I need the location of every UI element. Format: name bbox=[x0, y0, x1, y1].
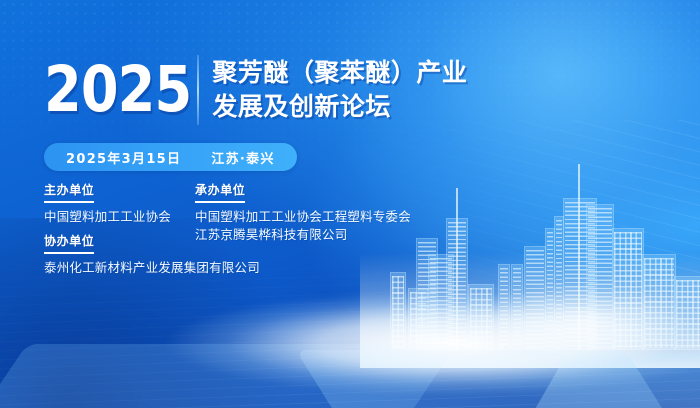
organizer-heading: 承办单位 bbox=[195, 181, 245, 203]
organizer-line: 泰州化工新材料产业发展集团有限公司 bbox=[44, 259, 260, 277]
organizer-heading: 主办单位 bbox=[44, 181, 94, 203]
organizer-line: 中国塑料加工工业协会工程塑料专委会 bbox=[195, 208, 411, 226]
title-line-2: 发展及创新论坛 bbox=[212, 90, 467, 124]
event-location: 江苏·泰兴 bbox=[211, 148, 274, 167]
title-line-1: 聚芳醚（聚苯醚）产业 bbox=[212, 56, 467, 90]
poster-content: 2025 聚芳醚（聚苯醚）产业 发展及创新论坛 2025年3月15日 江苏·泰兴… bbox=[44, 0, 684, 408]
organizer-line: 中国塑料加工工业协会 bbox=[44, 208, 171, 226]
event-date: 2025年3月15日 bbox=[66, 148, 181, 167]
title-divider bbox=[197, 55, 199, 125]
organizer-heading: 协办单位 bbox=[44, 232, 94, 254]
organizer-block-host: 主办单位 中国塑料加工工业协会 bbox=[44, 181, 171, 226]
organizer-body: 泰州化工新材料产业发展集团有限公司 bbox=[44, 259, 260, 277]
event-title: 聚芳醚（聚苯醚）产业 发展及创新论坛 bbox=[212, 56, 467, 125]
organizer-block-supporter: 协办单位 泰州化工新材料产业发展集团有限公司 bbox=[44, 232, 260, 277]
organizer-body: 中国塑料加工工业协会 bbox=[44, 208, 171, 226]
date-location-badge: 2025年3月15日 江苏·泰兴 bbox=[44, 143, 297, 171]
year-number: 2025 bbox=[44, 60, 191, 120]
title-row: 2025 聚芳醚（聚苯醚）产业 发展及创新论坛 bbox=[44, 55, 467, 125]
event-poster: 2025 聚芳醚（聚苯醚）产业 发展及创新论坛 2025年3月15日 江苏·泰兴… bbox=[0, 0, 700, 408]
